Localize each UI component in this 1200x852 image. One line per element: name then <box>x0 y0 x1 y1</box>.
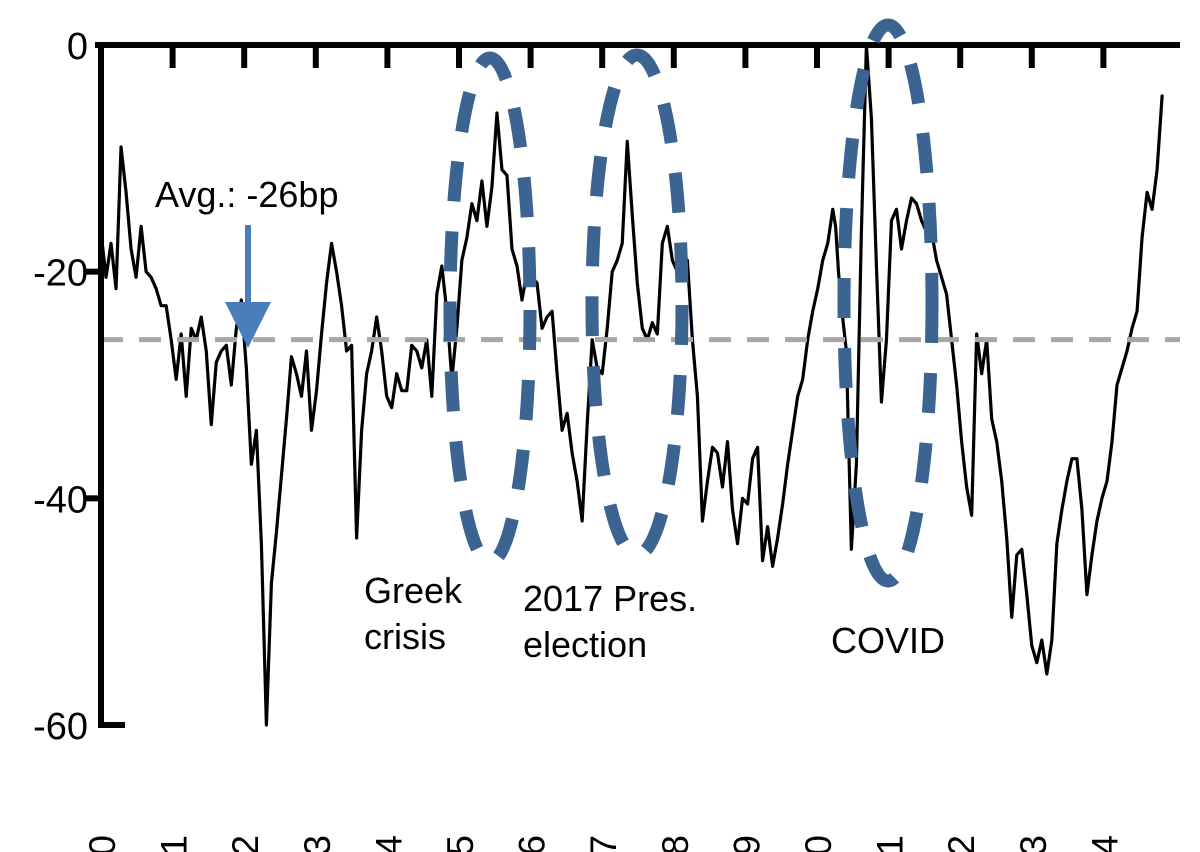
x-axis-tick-label: 2014 <box>368 835 409 852</box>
x-axis-tick-label: 2020 <box>798 835 839 852</box>
x-axis-tick-label: 2015 <box>440 835 481 852</box>
election-2017-annotation-text-line: election <box>523 624 647 665</box>
y-axis-tick-label: -60 <box>33 706 88 748</box>
chart-container: 0-20-40-60 20102011201220132014201520162… <box>0 0 1200 852</box>
x-axis-tick-labels: 2010201120122013201420152016201720182019… <box>82 835 1125 852</box>
x-axis-tick-label: 2010 <box>82 835 123 852</box>
x-axis-tick-label: 2021 <box>870 835 911 852</box>
x-axis-tick-label: 2024 <box>1084 835 1125 852</box>
x-axis-tick-label: 2017 <box>583 835 624 852</box>
covid-annotation-text-line: COVID <box>831 620 945 661</box>
greek-crisis-annotation-text-line: Greek <box>364 570 463 611</box>
avg-annotation-text: Avg.: -26bp <box>155 174 338 215</box>
y-axis-tick-label: -40 <box>33 479 88 521</box>
x-axis-tick-label: 2012 <box>225 835 266 852</box>
x-axis-tick-label: 2016 <box>512 835 553 852</box>
line-chart: 0-20-40-60 20102011201220132014201520162… <box>0 0 1200 852</box>
election-2017-annotation-text-line: 2017 Pres. <box>523 578 697 619</box>
chart-background <box>0 0 1200 852</box>
y-axis-tick-label: 0 <box>67 26 88 68</box>
x-axis-tick-label: 2022 <box>941 835 982 852</box>
x-axis-tick-label: 2018 <box>655 835 696 852</box>
y-axis-tick-label: -20 <box>33 253 88 295</box>
greek-crisis-annotation-text-line: crisis <box>364 616 446 657</box>
x-axis-tick-label: 2013 <box>297 835 338 852</box>
x-axis-tick-label: 2023 <box>1013 835 1054 852</box>
x-axis-tick-label: 2019 <box>726 835 767 852</box>
x-axis-tick-label: 2011 <box>154 835 195 852</box>
